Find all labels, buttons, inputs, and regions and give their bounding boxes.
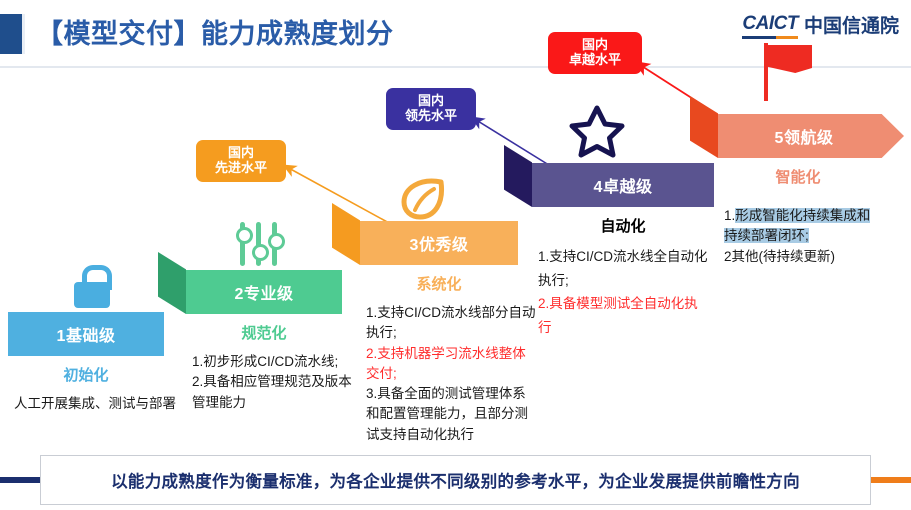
- step-body: 1.形成智能化持续集成和持续部署闭环; 2其他(待持续更新): [724, 206, 876, 267]
- logo-mark: CAICT: [742, 14, 798, 39]
- step-title-bar: 5领航级: [718, 114, 904, 158]
- step-subtitle: 初始化: [8, 364, 164, 385]
- step-title: 3优秀级: [410, 231, 469, 255]
- step-subtitle: 自动化: [532, 215, 714, 236]
- step-fold: [690, 96, 718, 158]
- step-subtitle: 系统化: [360, 273, 518, 294]
- step-subtitle: 智能化: [718, 166, 878, 187]
- header-accent-edge: [22, 14, 25, 54]
- callout-leading[interactable]: 国内 领先水平: [386, 88, 476, 130]
- step-body: 1.支持CI/CD流水线全自动化执行; 2.具备模型测试全自动化执行: [538, 245, 710, 340]
- step-title-bar: 3优秀级: [360, 221, 518, 265]
- step-title: 1基础级: [57, 322, 116, 346]
- logo-name-text: 中国信通院: [804, 17, 899, 39]
- step-title-bar: 1基础级: [8, 312, 164, 356]
- step-body: 1.初步形成CI/CD流水线; 2.具备相应管理规范及版本管理能力: [192, 352, 362, 413]
- step-title: 2专业级: [235, 280, 294, 304]
- callout-advanced[interactable]: 国内 先进水平: [196, 140, 286, 182]
- slide-canvas: 【模型交付】能力成熟度划分 CAICT 中国信通院: [0, 0, 911, 510]
- step-title: 5领航级: [775, 124, 834, 148]
- summary-banner-text: 以能力成熟度作为衡量标准，为各企业提供不同级别的参考水平，为企业发展提供前瞻性方…: [111, 468, 800, 492]
- summary-banner: 以能力成熟度作为衡量标准，为各企业提供不同级别的参考水平，为企业发展提供前瞻性方…: [40, 455, 871, 505]
- sliders-icon: [237, 222, 281, 266]
- step-fold: [332, 203, 360, 265]
- page-title: 【模型交付】能力成熟度划分: [36, 14, 394, 54]
- step-fold: [504, 145, 532, 207]
- caict-logo: CAICT 中国信通院: [742, 14, 899, 39]
- logo-mark-text: CAICT: [742, 13, 798, 34]
- step-title-bar: 2专业级: [186, 270, 342, 314]
- lock-icon: [72, 265, 112, 309]
- callout-excellent[interactable]: 国内 卓越水平: [548, 32, 642, 74]
- step-body: 人工开展集成、测试与部署: [14, 394, 182, 414]
- header-accent-bar: [0, 14, 22, 54]
- star-icon: [568, 104, 626, 158]
- flag-icon: [760, 43, 820, 103]
- step-fold: [158, 252, 186, 314]
- logo-underline: [742, 36, 798, 39]
- step-body: 1.支持CI/CD流水线部分自动执行; 2.支持机器学习流水线整体交付; 3.具…: [366, 303, 538, 445]
- step-title: 4卓越级: [594, 173, 653, 197]
- step-subtitle: 规范化: [186, 322, 342, 343]
- leaf-icon: [400, 178, 446, 220]
- step-title-bar: 4卓越级: [532, 163, 714, 207]
